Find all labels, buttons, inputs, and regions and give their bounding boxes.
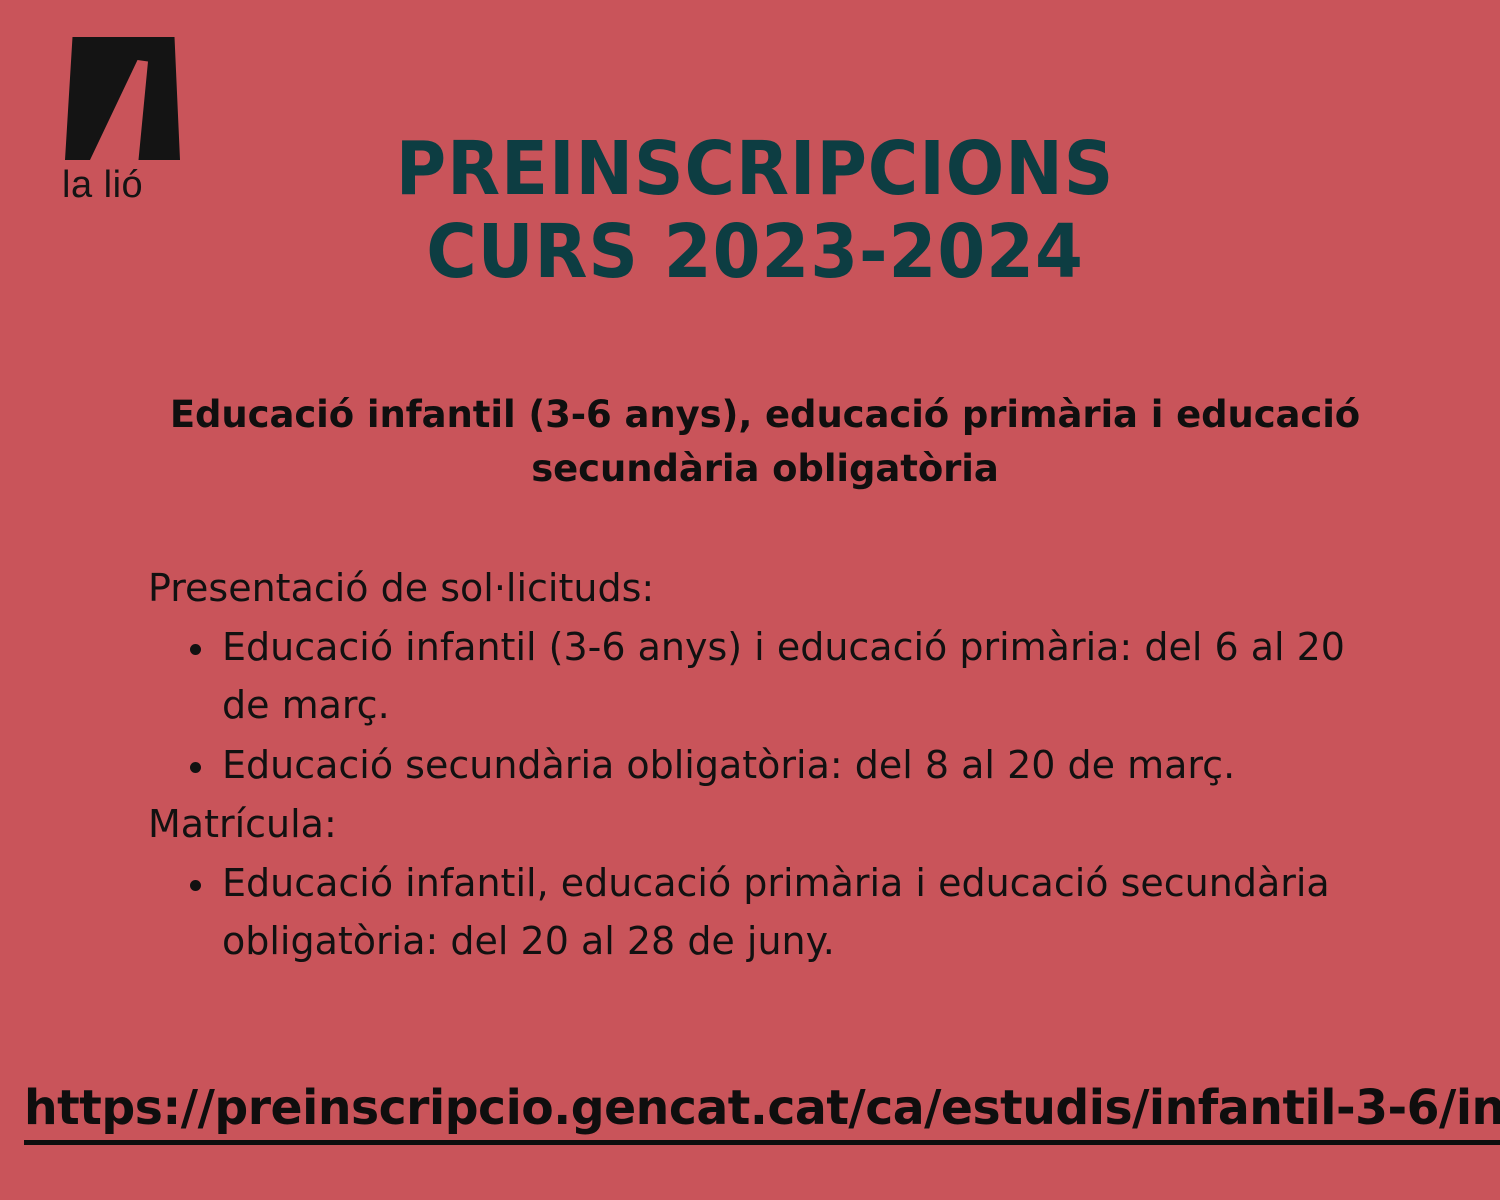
subtitle: Educació infantil (3-6 anys), educació p… [150, 388, 1380, 495]
preinscripcio-url-link[interactable]: https://preinscripcio.gencat.cat/ca/estu… [24, 1078, 1500, 1145]
bullet-list-presentacio: Educació infantil (3-6 anys) i educació … [148, 619, 1398, 794]
subtitle-text: Educació infantil (3-6 anys), educació p… [150, 388, 1380, 495]
footer: https://preinscripcio.gencat.cat/ca/estu… [24, 1078, 1484, 1145]
section-heading-presentacio: Presentació de sol·licituds: [148, 560, 1398, 617]
title-line-1: PREINSCRIPCIONS [285, 128, 1224, 211]
list-item: Educació secundària obligatòria: del 8 a… [186, 737, 1398, 795]
bullet-list-matricula: Educació infantil, educació primària i e… [148, 855, 1398, 971]
poster-canvas: la lió PREINSCRIPCIONS CURS 2023-2024 Ed… [0, 0, 1500, 1200]
logo-wordmark: la lió [62, 166, 242, 204]
list-item: Educació infantil, educació primària i e… [186, 855, 1398, 971]
page-title: PREINSCRIPCIONS CURS 2023-2024 [250, 128, 1260, 294]
body-content: Presentació de sol·licituds: Educació in… [148, 560, 1398, 973]
logo: la lió [62, 34, 242, 214]
list-item: Educació infantil (3-6 anys) i educació … [186, 619, 1398, 735]
title-line-2: CURS 2023-2024 [285, 211, 1224, 294]
la-lio-mark-icon [62, 34, 182, 164]
section-heading-matricula: Matrícula: [148, 796, 1398, 853]
